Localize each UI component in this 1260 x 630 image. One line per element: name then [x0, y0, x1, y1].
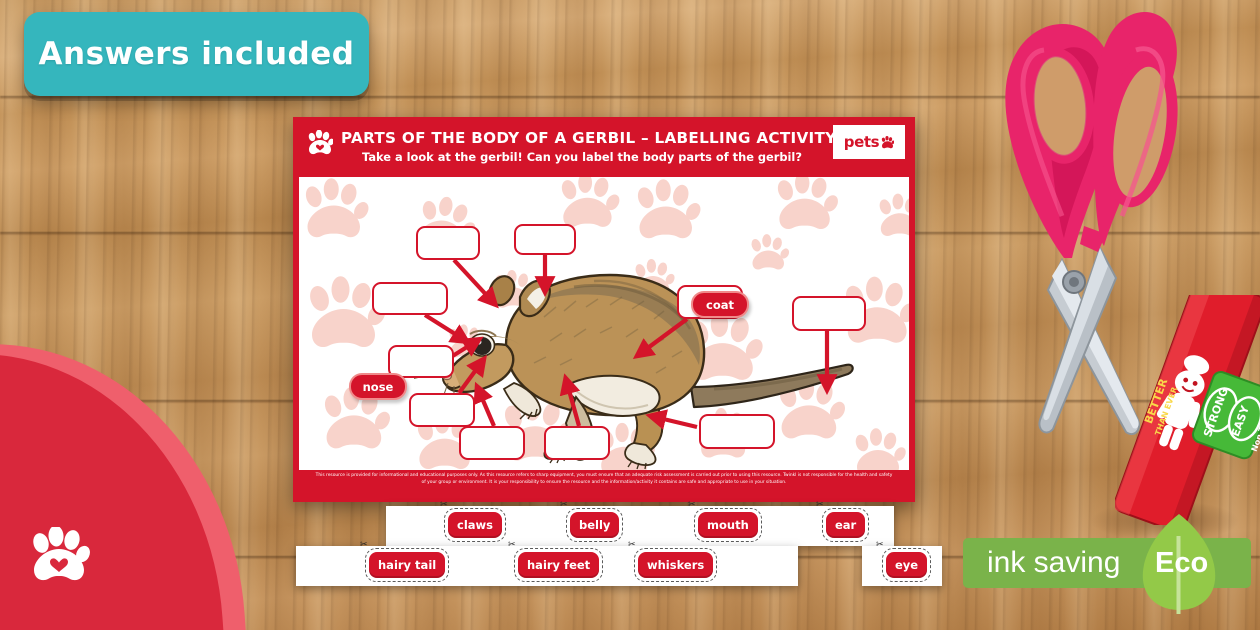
paw-heart-icon	[28, 527, 90, 585]
label-box-hind-feet[interactable]	[699, 414, 775, 449]
answers-included-badge: Answers included	[24, 12, 369, 96]
worksheet-header: PARTS OF THE BODY OF A GERBIL – LABELLIN…	[299, 123, 909, 177]
scissors-cut-mark-icon: ✂	[508, 540, 516, 550]
filled-label-nose[interactable]: nose	[349, 373, 407, 400]
cutout-card-label: claws	[448, 512, 502, 538]
label-box-ear[interactable]	[514, 224, 576, 255]
cutout-card-mouth[interactable]: mouth	[694, 508, 762, 542]
cutout-card-label: hairy feet	[518, 552, 599, 578]
label-box-eye[interactable]	[416, 226, 480, 260]
scissors-cut-mark-icon: ✂	[560, 500, 568, 510]
cutout-card-hairy-tail[interactable]: hairy tail	[365, 548, 449, 582]
scissors-cut-mark-icon: ✂	[440, 500, 448, 510]
cutout-card-eye[interactable]: eye	[882, 548, 931, 582]
eco-badge: ink saving Eco	[963, 534, 1251, 590]
glue-stick-prop: BETTER THAN EVER STRONG EASY Non Toxic	[1115, 295, 1260, 525]
screenshot-stage: Answers included PARTS OF THE BODY OF	[0, 0, 1260, 630]
paw-icon	[307, 130, 333, 155]
cutout-card-label: hairy tail	[369, 552, 445, 578]
cutout-card-hairy-feet[interactable]: hairy feet	[514, 548, 603, 582]
corner-decoration	[0, 340, 240, 630]
label-box-whiskers[interactable]	[372, 282, 448, 315]
label-box-belly[interactable]	[544, 426, 610, 460]
scissors-cut-mark-icon: ✂	[876, 540, 884, 550]
scissors-cut-mark-icon: ✂	[360, 540, 368, 550]
cutout-card-belly[interactable]: belly	[566, 508, 623, 542]
label-box-hairy-tail[interactable]	[792, 296, 866, 331]
cutout-card-whiskers[interactable]: whiskers	[634, 548, 717, 582]
eco-word-label: Eco	[1155, 547, 1208, 580]
cutout-card-label: whiskers	[638, 552, 713, 578]
cutout-card-label: ear	[826, 512, 865, 538]
filled-label-coat[interactable]: coat	[691, 291, 749, 318]
cutout-card-label: belly	[570, 512, 619, 538]
scissors-cut-mark-icon: ✂	[688, 500, 696, 510]
scissors-cut-mark-icon: ✂	[628, 540, 636, 550]
label-box-claws[interactable]	[459, 426, 525, 460]
page-title: PARTS OF THE BODY OF A GERBIL – LABELLIN…	[341, 129, 823, 147]
page-subtitle: Take a look at the gerbil! Can you label…	[341, 150, 823, 164]
eco-ink-saving-label: ink saving	[987, 546, 1120, 580]
worksheet-page: PARTS OF THE BODY OF A GERBIL – LABELLIN…	[293, 117, 915, 502]
cutout-card-claws[interactable]: claws	[444, 508, 506, 542]
cutout-card-label: mouth	[698, 512, 758, 538]
disclaimer-text: This resource is provided for informatio…	[299, 470, 909, 496]
scissors-cut-mark-icon: ✂	[816, 500, 824, 510]
pets-logo: pets	[833, 125, 905, 159]
paw-icon	[881, 136, 894, 149]
label-box-hairy-feet[interactable]	[409, 393, 475, 427]
cutout-card-label: eye	[886, 552, 927, 578]
pets-logo-text: pets	[844, 133, 879, 151]
activity-canvas: nosecoat	[299, 177, 909, 470]
answers-included-label: Answers included	[39, 36, 355, 72]
cutout-card-ear[interactable]: ear	[822, 508, 869, 542]
